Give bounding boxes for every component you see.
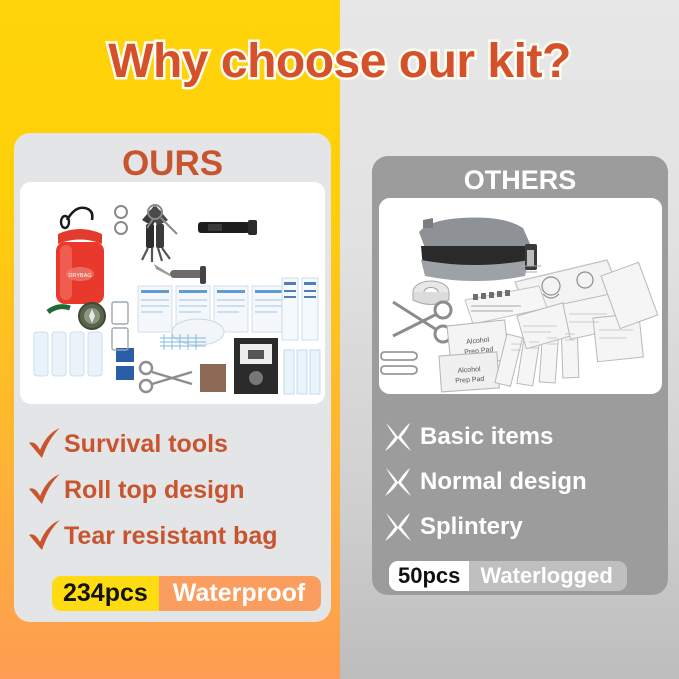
check-icon <box>26 473 64 507</box>
check-icon <box>26 519 64 553</box>
ours-feature-label: Tear resistant bag <box>64 524 278 549</box>
cross-icon <box>382 422 414 452</box>
ours-feature-label: Survival tools <box>64 432 228 457</box>
others-badge: 50pcs Waterlogged <box>389 561 627 591</box>
ours-feature-label: Roll top design <box>64 478 245 503</box>
others-badge-text: Waterlogged <box>469 561 626 591</box>
others-feature-label: Splintery <box>420 515 523 539</box>
ours-feature-row: Roll top design <box>26 467 326 513</box>
ours-product-photo: DRYBAG <box>20 182 325 404</box>
ours-feature-row: Survival tools <box>26 421 326 467</box>
others-product-photo: Alcohol Prep Pad Alcohol Prep Pad <box>379 198 662 394</box>
ours-badge-text: Waterproof <box>159 576 321 611</box>
ours-heading: OURS <box>14 133 331 181</box>
others-badge-quantity: 50pcs <box>389 561 469 591</box>
others-kit-illustration: Alcohol Prep Pad Alcohol Prep Pad <box>379 198 662 394</box>
ours-feature-row: Tear resistant bag <box>26 513 326 559</box>
ours-badge: 234pcs Waterproof <box>52 576 321 611</box>
cross-icon <box>382 467 414 497</box>
page-title: Why choose our kit? <box>0 34 679 89</box>
others-feature-list: Basic items Normal design Splintery <box>382 414 662 549</box>
ours-badge-quantity: 234pcs <box>52 576 159 611</box>
ours-kit-illustration: DRYBAG <box>20 182 325 404</box>
svg-text:DRYBAG: DRYBAG <box>68 273 91 279</box>
others-heading: OTHERS <box>372 156 668 194</box>
others-feature-row: Splintery <box>382 504 662 549</box>
cross-icon <box>382 512 414 542</box>
others-feature-label: Normal design <box>420 470 587 494</box>
others-feature-label: Basic items <box>420 425 553 449</box>
others-feature-row: Basic items <box>382 414 662 459</box>
check-icon <box>26 427 64 461</box>
others-feature-row: Normal design <box>382 459 662 504</box>
ours-feature-list: Survival tools Roll top design Tear resi… <box>26 421 326 559</box>
